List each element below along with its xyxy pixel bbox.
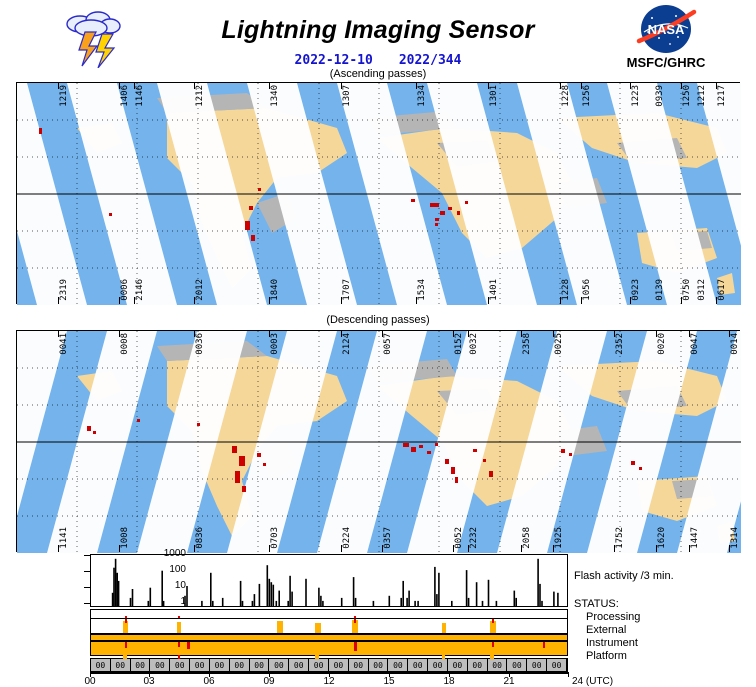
orbit-time-label: 2124 xyxy=(343,333,352,355)
orbit-time-label: 0008 xyxy=(121,333,130,355)
hour-cell[interactable]: 00 xyxy=(349,659,369,671)
svg-text:NASA: NASA xyxy=(648,22,685,37)
orbit-time-label: 2352 xyxy=(616,333,625,355)
orbit-time-label: 1301 xyxy=(490,85,499,107)
orbit-time-label: 0014 xyxy=(731,333,740,355)
orbit-time-label: 0836 xyxy=(196,527,205,549)
legend-platform: Platform xyxy=(586,650,627,662)
x-axis-unit-label: 24 (UTC) xyxy=(572,676,613,687)
descending-map-canvas[interactable] xyxy=(16,330,740,552)
ascending-map-canvas[interactable] xyxy=(16,82,740,304)
orbit-time-label: 1534 xyxy=(418,279,427,301)
orbit-time-label: 0939 xyxy=(656,85,665,107)
hour-cell[interactable]: 00 xyxy=(408,659,428,671)
orbit-time-label: 0006 xyxy=(121,279,130,301)
orbit-time-label: 1334 xyxy=(418,85,427,107)
y-tick-label: 100 xyxy=(146,564,186,575)
orbit-time-label: 0750 xyxy=(683,279,692,301)
hour-cell[interactable]: 00 xyxy=(468,659,488,671)
hour-cell[interactable]: 00 xyxy=(389,659,409,671)
legend-processing: Processing xyxy=(586,611,640,623)
orbit-time-label: 1141 xyxy=(60,527,69,549)
legend-external: External xyxy=(586,624,626,636)
page-header: Lightning Imaging Sensor 2022-12-102022/… xyxy=(0,0,756,80)
y-tick-label: 1000 xyxy=(146,548,186,559)
orbit-time-label: 0617 xyxy=(718,279,727,301)
orbit-time-label: 2232 xyxy=(470,527,479,549)
orbit-time-label: 0057 xyxy=(384,333,393,355)
orbit-time-label: 1056 xyxy=(583,279,592,301)
orbit-time-label: 1223 xyxy=(632,85,641,107)
orbit-time-label: 1212 xyxy=(698,85,707,107)
orbit-time-label: 0152 xyxy=(455,333,464,355)
descending-pass-label: (Descending passes) xyxy=(0,314,756,326)
x-tick-label: 00 xyxy=(84,676,95,687)
legend-status-title: STATUS: xyxy=(574,598,619,610)
hour-cell[interactable]: 00 xyxy=(190,659,210,671)
x-tick-label: 21 xyxy=(503,676,514,687)
hour-cell[interactable]: 00 xyxy=(508,659,528,671)
hour-cell[interactable]: 00 xyxy=(91,659,111,671)
status-row-instrument[interactable] xyxy=(90,634,568,641)
hour-cell[interactable]: 00 xyxy=(230,659,250,671)
orbit-time-label: 1406 xyxy=(121,85,130,107)
hour-cell[interactable]: 00 xyxy=(428,659,448,671)
orbit-time-label: 0025 xyxy=(555,333,564,355)
ascending-passes-map[interactable]: 1219 1406 1146 1212 1340 1307 1334 1301 … xyxy=(16,82,740,304)
y-tick-label: 1 xyxy=(146,596,186,607)
hour-cell[interactable]: 00 xyxy=(369,659,389,671)
nasa-meatball-icon: NASA xyxy=(630,4,702,54)
y-tick-label: 10 xyxy=(146,580,186,591)
orbit-time-label: 0003 xyxy=(271,333,280,355)
orbit-time-label: 2058 xyxy=(523,527,532,549)
orbit-time-label: 0052 xyxy=(455,527,464,549)
orbit-time-label: 0139 xyxy=(656,279,665,301)
hour-cell[interactable]: 00 xyxy=(309,659,329,671)
orbit-time-label: 1217 xyxy=(718,85,727,107)
hour-cell[interactable]: 00 xyxy=(329,659,349,671)
hour-cell[interactable]: 00 xyxy=(131,659,151,671)
orbit-time-label: 2146 xyxy=(136,279,145,301)
orbit-time-label: 1008 xyxy=(121,527,130,549)
logo-subtitle: MSFC/GHRC xyxy=(610,55,722,70)
hour-cell[interactable]: 00 xyxy=(250,659,270,671)
day-of-year: 2022/344 xyxy=(399,53,462,68)
hour-cell[interactable]: 00 xyxy=(448,659,468,671)
orbit-time-label: 1228 xyxy=(562,279,571,301)
descending-passes-map[interactable]: 0041 0008 0036 0003 2124 0057 0152 0032 … xyxy=(16,330,740,552)
status-row-platform[interactable] xyxy=(90,641,568,656)
orbit-time-label: 0923 xyxy=(632,279,641,301)
orbit-time-label: 0224 xyxy=(343,527,352,549)
x-tick-label: 15 xyxy=(383,676,394,687)
observation-date: 2022-12-10 xyxy=(295,53,373,68)
orbit-time-label: 1250 xyxy=(683,85,692,107)
x-tick-label: 09 xyxy=(263,676,274,687)
orbit-time-label: 1219 xyxy=(60,85,69,107)
x-tick-label: 18 xyxy=(443,676,454,687)
orbit-time-label: 0047 xyxy=(691,333,700,355)
hour-cell[interactable]: 00 xyxy=(270,659,290,671)
orbit-time-label: 1256 xyxy=(583,85,592,107)
orbit-time-label: 1401 xyxy=(490,279,499,301)
hour-cell[interactable]: 00 xyxy=(111,659,131,671)
orbit-time-label: 0036 xyxy=(196,333,205,355)
hour-cell[interactable]: 00 xyxy=(527,659,547,671)
flash-activity-panel: 1000 100 10 1 xyxy=(0,552,756,680)
orbit-time-label: 0020 xyxy=(658,333,667,355)
orbit-time-label: 1447 xyxy=(691,527,700,549)
hour-cells-row[interactable]: 0000000000000000000000000000000000000000… xyxy=(90,658,568,672)
orbit-time-label: 0032 xyxy=(470,333,479,355)
legend-instrument: Instrument xyxy=(586,637,638,649)
orbit-time-label: 1840 xyxy=(271,279,280,301)
orbit-time-label: 0357 xyxy=(384,527,393,549)
x-tick-label: 12 xyxy=(323,676,334,687)
orbit-time-label: 1620 xyxy=(658,527,667,549)
orbit-time-label: 0312 xyxy=(698,279,707,301)
orbit-time-label: 1314 xyxy=(731,527,740,549)
orbit-time-label: 1228 xyxy=(562,85,571,107)
orbit-time-label: 1925 xyxy=(555,527,564,549)
orbit-time-label: 1212 xyxy=(196,85,205,107)
status-row-processing[interactable] xyxy=(90,609,568,618)
orbit-time-label: 0703 xyxy=(271,527,280,549)
hour-cell[interactable]: 00 xyxy=(289,659,309,671)
hour-cell[interactable]: 00 xyxy=(170,659,190,671)
hour-cell[interactable]: 00 xyxy=(210,659,230,671)
orbit-time-label: 2012 xyxy=(196,279,205,301)
orbit-time-label: 1752 xyxy=(616,527,625,549)
orbit-time-label: 1307 xyxy=(343,85,352,107)
x-tick-label: 06 xyxy=(203,676,214,687)
hour-cell[interactable]: 00 xyxy=(547,659,567,671)
orbit-time-label: 1146 xyxy=(136,85,145,107)
orbit-time-label: 2319 xyxy=(60,279,69,301)
x-tick-label: 03 xyxy=(143,676,154,687)
orbit-time-label: 0041 xyxy=(60,333,69,355)
legend-flash-activity: Flash activity /3 min. xyxy=(574,570,674,582)
hour-cell[interactable]: 00 xyxy=(151,659,171,671)
status-row-external[interactable] xyxy=(90,618,568,634)
orbit-time-label: 1340 xyxy=(271,85,280,107)
orbit-time-label: 1707 xyxy=(343,279,352,301)
hour-cell[interactable]: 00 xyxy=(488,659,508,671)
orbit-time-label: 2358 xyxy=(523,333,532,355)
